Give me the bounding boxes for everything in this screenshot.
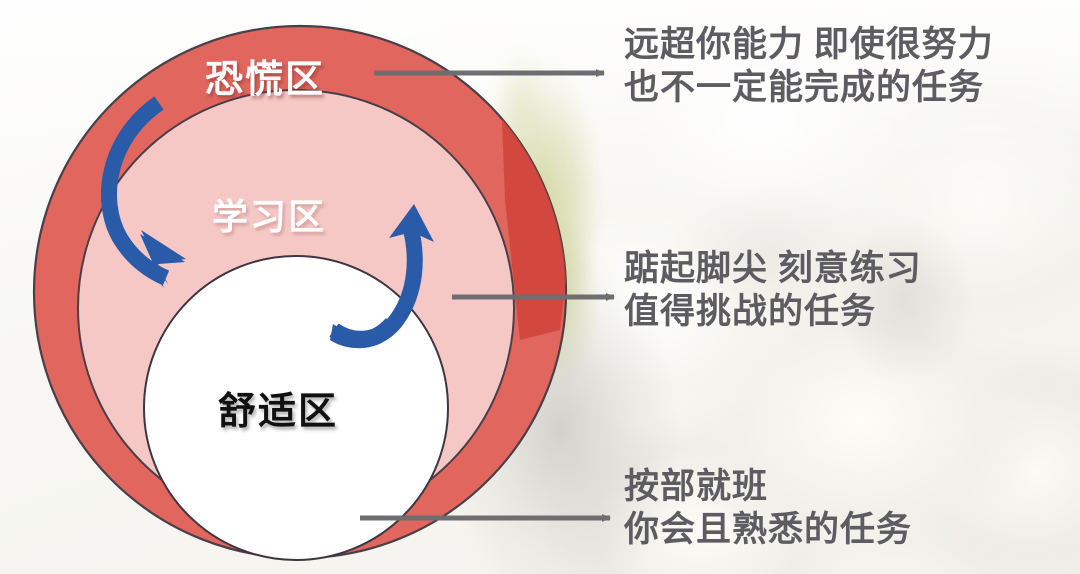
callout-comfort-line1: 按部就班 [624, 466, 912, 509]
callout-comfort: 按部就班 你会且熟悉的任务 [624, 466, 912, 551]
callout-learning-line1: 踮起脚尖 刻意练习 [624, 248, 922, 291]
callout-learning: 踮起脚尖 刻意练习 值得挑战的任务 [624, 248, 922, 333]
callout-panic: 远超你能力 即使很努力 也不一定能完成的任务 [624, 24, 994, 109]
callout-panic-line1: 远超你能力 即使很努力 [624, 24, 994, 67]
diagram-canvas: 恐慌区 学习区 舒适区 远超你能力 即使很努力 也不一定能完成的任务 踮起脚尖 … [0, 0, 1080, 574]
callout-comfort-line2: 你会且熟悉的任务 [624, 509, 912, 552]
callout-learning-line2: 值得挑战的任务 [624, 291, 922, 334]
callout-panic-line2: 也不一定能完成的任务 [624, 67, 994, 110]
